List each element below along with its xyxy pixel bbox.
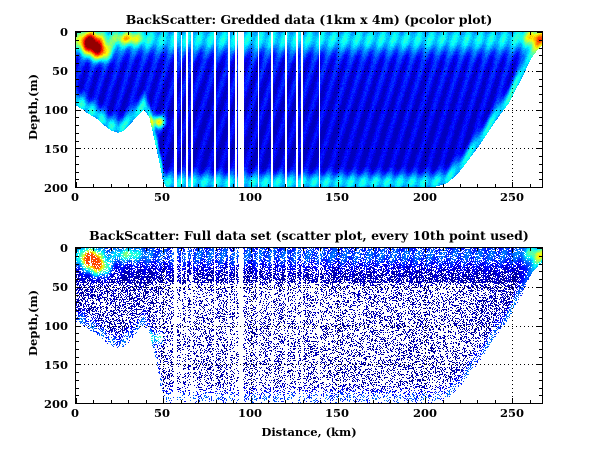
backscatter-full-scatter (76, 248, 542, 403)
bottom-ytick-150: 150 (36, 358, 68, 372)
bottom-ytick-50: 50 (36, 280, 68, 294)
top-ytick-150: 150 (36, 142, 68, 156)
bottom-xtick-0: 0 (57, 406, 93, 420)
figure-canvas: BackScatter: Gredded data (1km x 4m) (pc… (0, 0, 600, 451)
bottom-xtick-250: 250 (494, 406, 530, 420)
top-panel-title: BackScatter: Gredded data (1km x 4m) (pc… (75, 12, 543, 27)
bottom-ytick-0: 0 (36, 241, 68, 255)
top-xtick-0: 0 (57, 190, 93, 204)
bottom-xaxis-title: Distance, (km) (75, 425, 543, 439)
bottom-yaxis-title: Depth,(m) (26, 290, 40, 356)
top-xtick-200: 200 (407, 190, 443, 204)
bottom-ytick-100: 100 (36, 319, 68, 333)
top-xtick-250: 250 (494, 190, 530, 204)
bottom-panel-title: BackScatter: Full data set (scatter plot… (75, 228, 543, 243)
top-yaxis-title: Depth,(m) (26, 74, 40, 140)
backscatter-gridded-heatmap (76, 32, 542, 187)
bottom-plot-axes (75, 247, 543, 404)
top-xtick-150: 150 (319, 190, 355, 204)
top-plot-axes (75, 31, 543, 188)
bottom-xtick-100: 100 (232, 406, 268, 420)
bottom-xtick-50: 50 (144, 406, 180, 420)
bottom-xtick-200: 200 (407, 406, 443, 420)
top-xtick-50: 50 (144, 190, 180, 204)
bottom-xtick-150: 150 (319, 406, 355, 420)
top-ytick-100: 100 (36, 103, 68, 117)
top-xtick-100: 100 (232, 190, 268, 204)
top-ytick-50: 50 (36, 64, 68, 78)
top-ytick-0: 0 (36, 25, 68, 39)
